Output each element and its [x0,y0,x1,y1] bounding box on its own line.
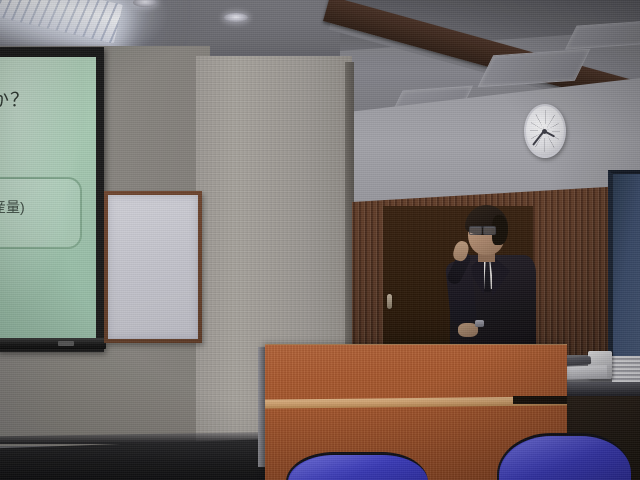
paper-stack [612,356,640,382]
projection-screen-bottom-bar [0,338,106,349]
slide-title-text: るか？ [0,85,30,112]
whiteboard-surface [108,195,198,339]
lecture-hall-photo: るか？ る 、生産量) [0,0,640,480]
ceiling-panel [565,20,640,49]
clock-center-pin [542,129,547,134]
wall-clock [524,104,566,158]
wristwatch-icon [475,320,484,327]
whiteboard [104,191,202,343]
side-counter-surface [556,382,640,396]
chair-sheen [288,455,428,480]
projection-screen-pull-tab[interactable] [58,341,74,346]
paper-sheet [561,365,607,380]
navy-wall-board [608,170,640,364]
presenter [440,205,545,355]
ceiling-spotlight-icon [224,13,248,22]
chair-sheen [499,436,631,480]
glasses-lens-right [483,226,496,235]
lectern-stripe-shadow [513,396,567,404]
glasses-lens-left [469,226,482,235]
door-handle-icon[interactable] [387,294,392,309]
audience-chair [286,452,428,480]
projection-screen: るか？ る 、生産量) [0,57,96,343]
slide-box-text: 、生産量) [0,197,25,217]
